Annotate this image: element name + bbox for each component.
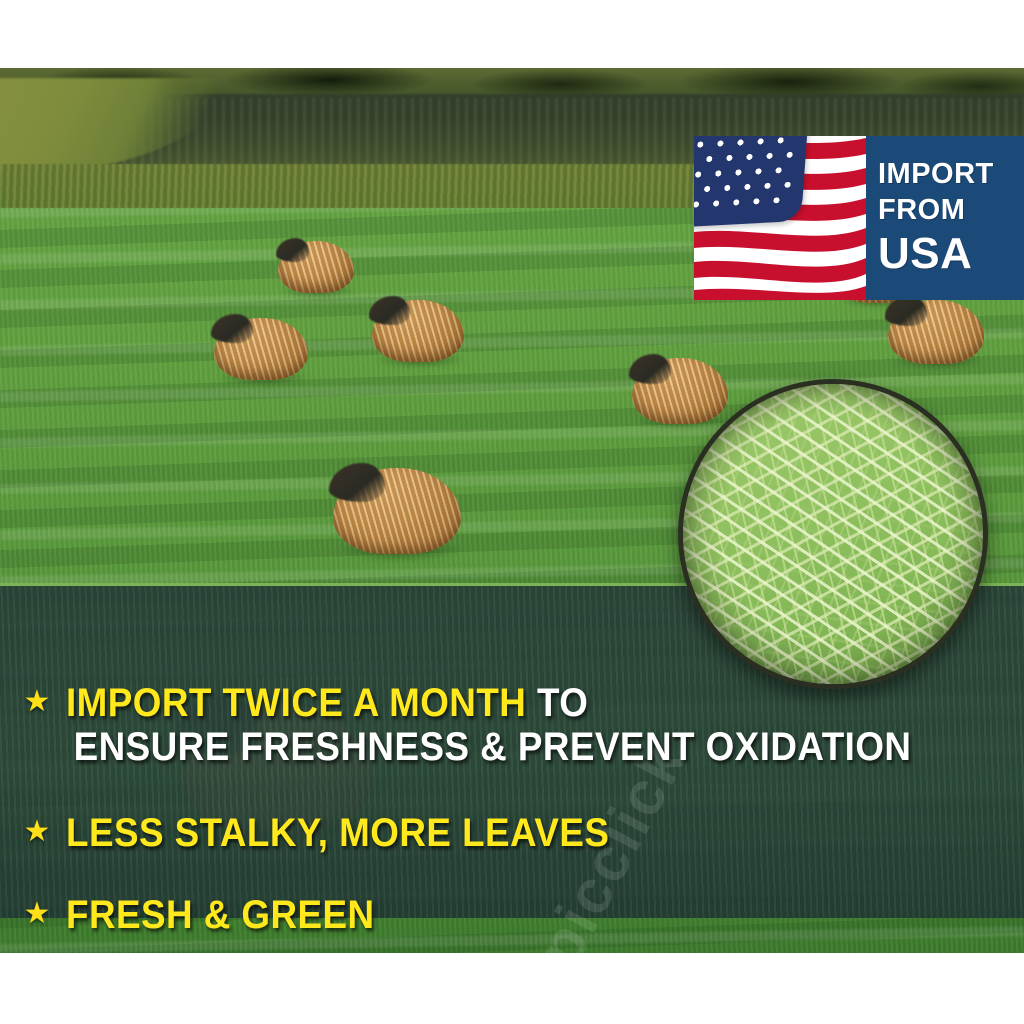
bullet-3-text: FRESH & GREEN [66,892,375,938]
star-bullet-icon: ★ [22,688,52,718]
hay-bale [632,358,728,424]
star-bullet-icon: ★ [22,818,52,848]
badge-text-panel: IMPORT FROM USA [866,136,1024,300]
bullet-item-1: ★ IMPORT TWICE A MONTH TO ENSURE FRESHNE… [0,680,1024,770]
star-bullet-icon: ★ [22,900,52,930]
inset-vignette [683,384,983,684]
hay-bale [333,468,461,554]
badge-line-from: FROM [878,196,1024,225]
import-from-usa-badge: IMPORT FROM USA [694,136,1024,300]
bullet-item-2: ★ LESS STALKY, MORE LEAVES [0,810,1024,856]
badge-line-import: IMPORT [878,160,1024,189]
flag-stars [694,136,808,227]
hay-bale [372,300,464,362]
hay-field-photo: picclick ★ IMPORT TWICE A MONTH TO ENSUR… [0,68,1024,953]
hay-bale [278,241,354,293]
hay-bale [214,318,308,380]
hay-bale [888,300,984,364]
magnified-hay-inset [678,379,988,689]
bullet-1-highlight-text: IMPORT TWICE A MONTH [66,681,537,725]
bullet-item-3: ★ FRESH & GREEN [0,892,1024,938]
bullet-1-line2: ENSURE FRESHNESS & PREVENT OXIDATION [0,724,942,770]
promo-image-canvas: picclick ★ IMPORT TWICE A MONTH TO ENSUR… [0,0,1024,1024]
usa-flag-icon [694,136,866,300]
bullet-1-white-text: TO [537,681,588,725]
bullet-2-text: LESS STALKY, MORE LEAVES [66,810,609,856]
badge-line-usa: USA [878,232,1024,276]
